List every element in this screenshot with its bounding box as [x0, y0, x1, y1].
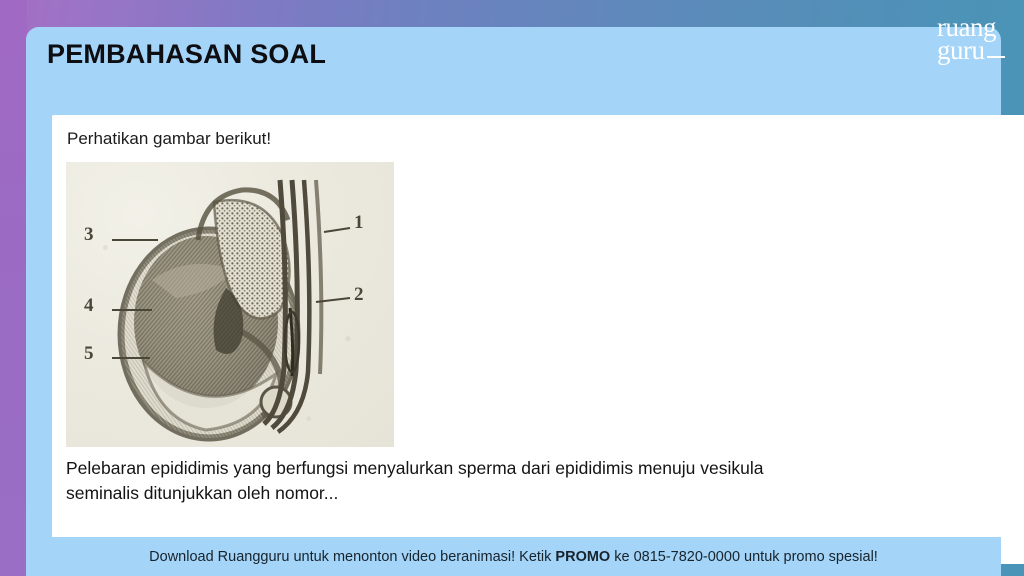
footer-promo-bar: Download Ruangguru untuk menonton video …: [26, 537, 1001, 576]
logo-line-2: guru: [937, 39, 996, 62]
footer-promo-text: Download Ruangguru untuk menonton video …: [149, 549, 878, 565]
figure-label-3: 3: [84, 224, 94, 246]
figure-label-4: 4: [84, 295, 94, 317]
question-line-1: Pelebaran epididimis yang berfungsi meny…: [66, 456, 1014, 481]
left-purple-rail: [0, 0, 27, 576]
figure-label-1: 1: [354, 212, 364, 234]
ruangguru-logo: ruang guru: [937, 16, 996, 62]
logo-underscore-mark: [987, 56, 1005, 58]
footer-promo-keyword: PROMO: [555, 549, 610, 565]
figure-label-2: 2: [354, 284, 364, 306]
anatomy-illustration: [66, 162, 394, 447]
slide-card: PEMBAHASAN SOAL Perhatikan gambar beriku…: [26, 27, 1001, 576]
page-title: PEMBAHASAN SOAL: [47, 39, 326, 70]
footer-text-after: ke 0815-7820-0000 untuk promo spesial!: [610, 549, 878, 565]
question-text: Pelebaran epididimis yang berfungsi meny…: [66, 456, 1014, 507]
lead-instruction: Perhatikan gambar berikut!: [67, 129, 271, 149]
footer-text-before: Download Ruangguru untuk menonton video …: [149, 549, 555, 565]
logo-line-2-text: guru: [937, 35, 985, 65]
figure-label-5: 5: [84, 343, 94, 365]
question-line-2: seminalis ditunjukkan oleh nomor...: [66, 481, 1014, 506]
content-sheet: Perhatikan gambar berikut!: [52, 115, 1024, 564]
anatomy-figure-image: 3 4 5 1 2: [66, 162, 394, 447]
